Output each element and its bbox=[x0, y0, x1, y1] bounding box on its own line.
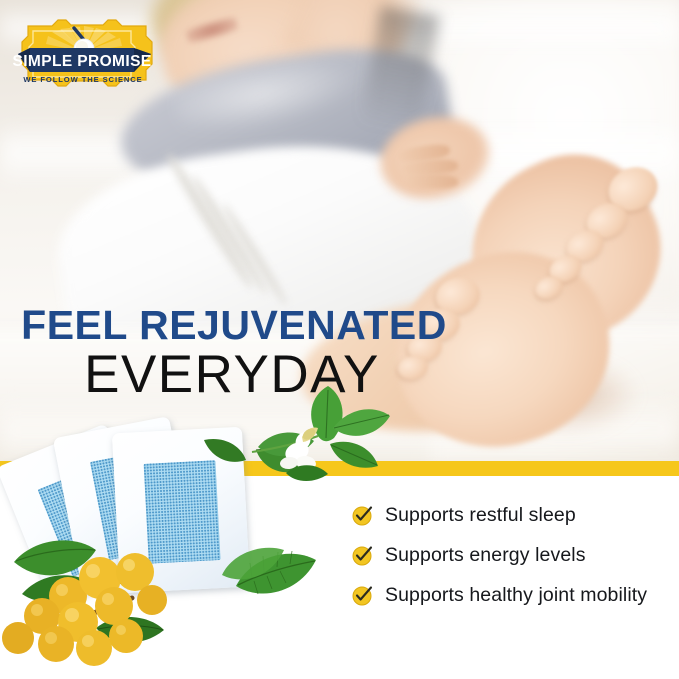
logo-trademark: ™ bbox=[145, 54, 151, 61]
check-circle-icon bbox=[352, 505, 373, 526]
headline-line-2: EVERYDAY bbox=[0, 347, 460, 403]
foot-patch bbox=[112, 427, 250, 594]
logo-brand-name: SIMPLE PROMISE bbox=[12, 53, 151, 70]
headline-line-1: FEEL REJUVENATED bbox=[0, 303, 460, 347]
simple-promise-logo: SIMPLE PROMISE ™ WE FOLLOW THE SCIENCE bbox=[12, 18, 157, 94]
logo-svg: SIMPLE PROMISE ™ WE FOLLOW THE SCIENCE bbox=[12, 18, 157, 94]
list-item: Supports restful sleep bbox=[352, 497, 672, 533]
list-item-label: Supports restful sleep bbox=[385, 504, 576, 527]
list-item-label: Supports healthy joint mobility bbox=[385, 584, 647, 607]
benefits-list: Supports restful sleep Supports energy l… bbox=[352, 497, 672, 617]
list-item: Supports energy levels bbox=[352, 537, 672, 573]
patch-mesh bbox=[144, 460, 221, 564]
list-item-label: Supports energy levels bbox=[385, 544, 586, 567]
list-item: Supports healthy joint mobility bbox=[352, 577, 672, 613]
check-circle-icon bbox=[352, 545, 373, 566]
product-banner: FEEL REJUVENATED EVERYDAY bbox=[0, 0, 679, 679]
logo-tagline: WE FOLLOW THE SCIENCE bbox=[23, 75, 142, 84]
foot-patches bbox=[4, 418, 274, 648]
check-circle-icon bbox=[352, 585, 373, 606]
page-title: FEEL REJUVENATED EVERYDAY bbox=[0, 303, 460, 403]
